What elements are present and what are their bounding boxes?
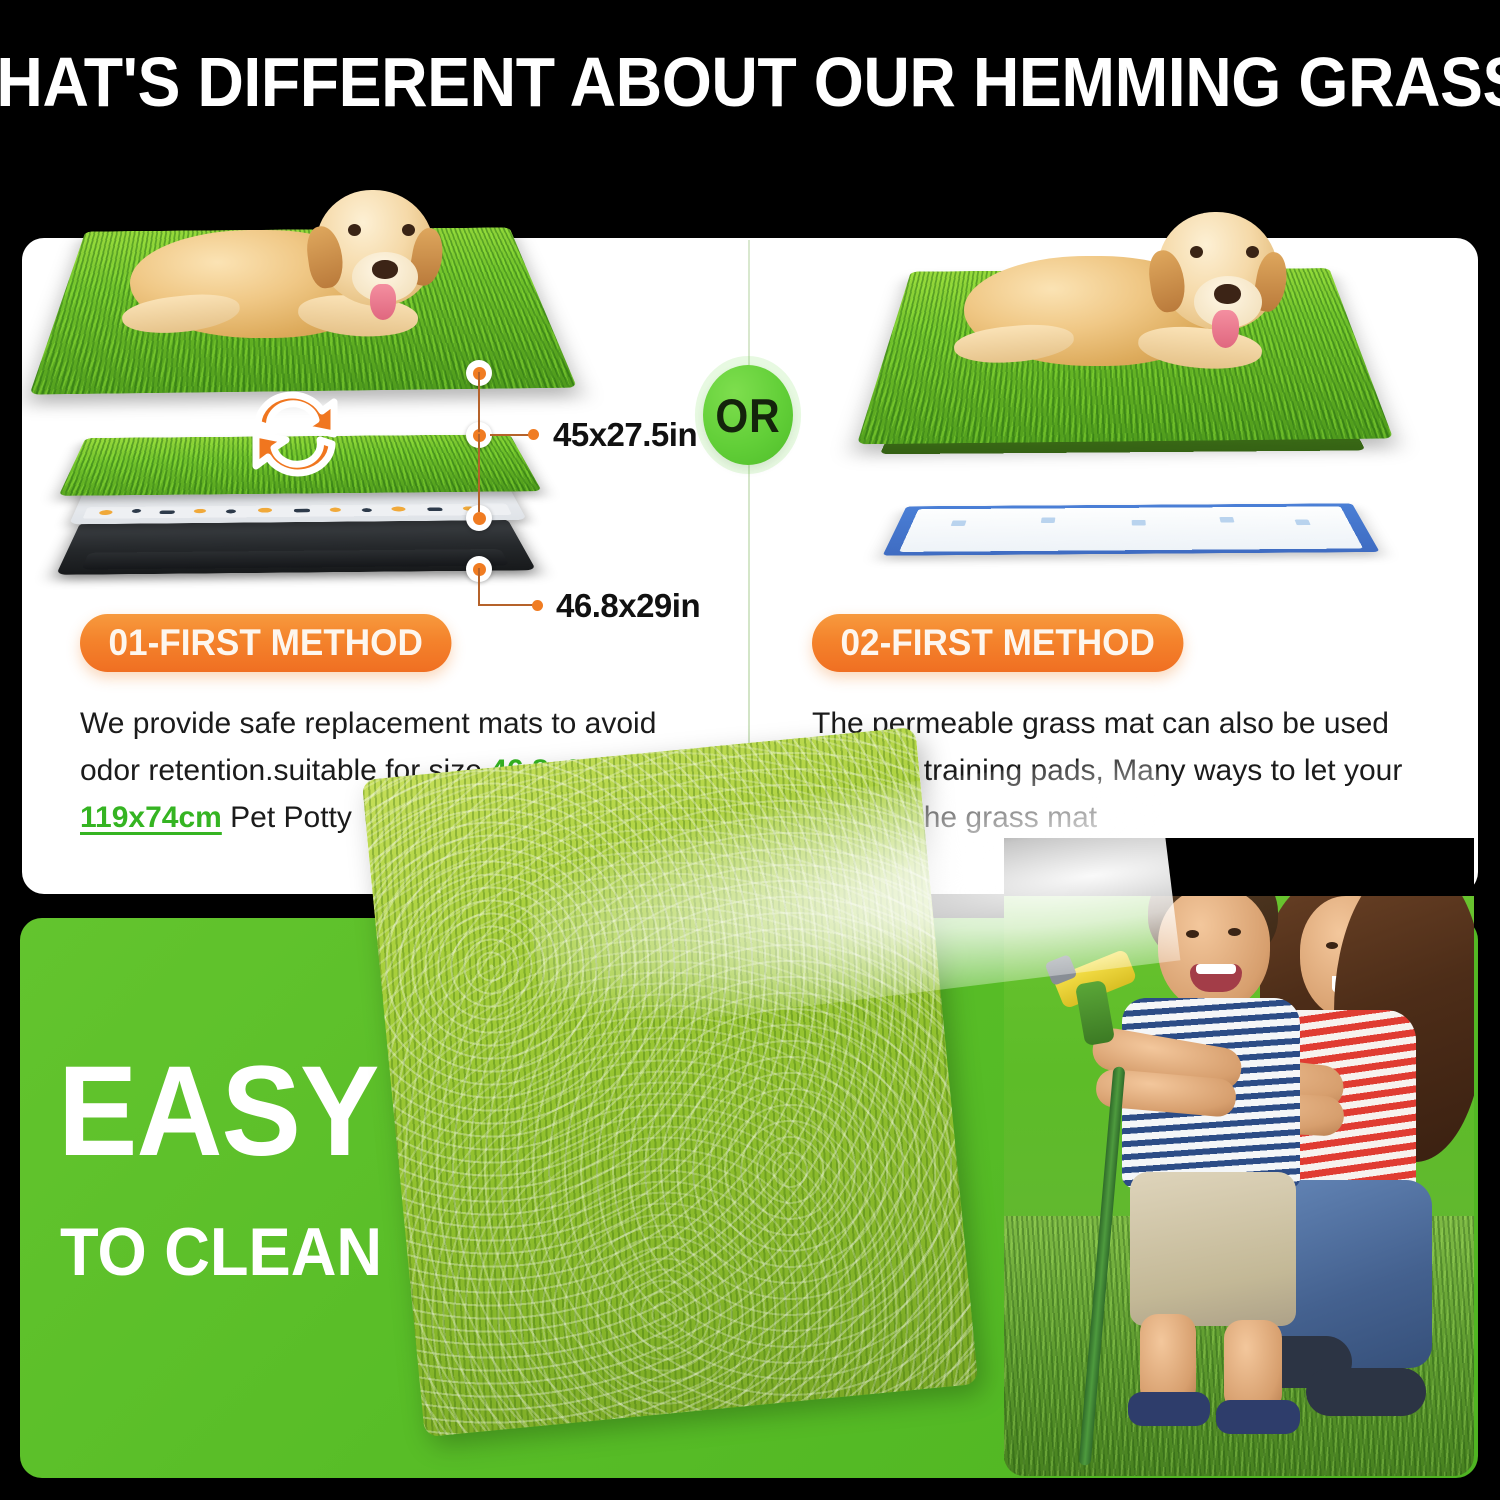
callout-enddot-45 <box>528 429 539 440</box>
or-badge: OR <box>703 365 793 465</box>
hose-nozzle-icon <box>1034 942 1152 1038</box>
dimension-label-45: 45x27.5in <box>553 416 697 454</box>
easy-headline: EASY <box>58 1048 378 1176</box>
boy-figure <box>1096 852 1356 1432</box>
callout-line-46 <box>478 604 536 606</box>
method-pill-02: 02-FIRST METHOD <box>812 614 1183 672</box>
photo-top-mask <box>1004 838 1474 896</box>
callout-connector-vertical-mid <box>478 434 480 512</box>
family-hose-photo <box>1004 838 1474 1476</box>
callout-enddot-46 <box>532 600 543 611</box>
to-clean-subline: TO CLEAN <box>60 1218 382 1286</box>
callout-connector-vertical-bottom <box>478 568 480 606</box>
dog-photo-left <box>120 168 480 368</box>
callout-line-45 <box>490 434 532 436</box>
product-stack-right <box>860 0 1480 640</box>
product-stack-left <box>0 0 760 640</box>
dog-photo-right <box>950 196 1330 406</box>
wet-grass-mat <box>362 727 979 1437</box>
method-body-01-suffix: Pet Potty <box>230 801 352 834</box>
training-pad-surface <box>899 506 1363 552</box>
recycle-icon <box>230 378 360 490</box>
callout-connector-vertical-top <box>478 372 480 432</box>
dimension-label-46: 46.8x29in <box>556 587 700 625</box>
method-pill-01: 01-FIRST METHOD <box>80 614 451 672</box>
